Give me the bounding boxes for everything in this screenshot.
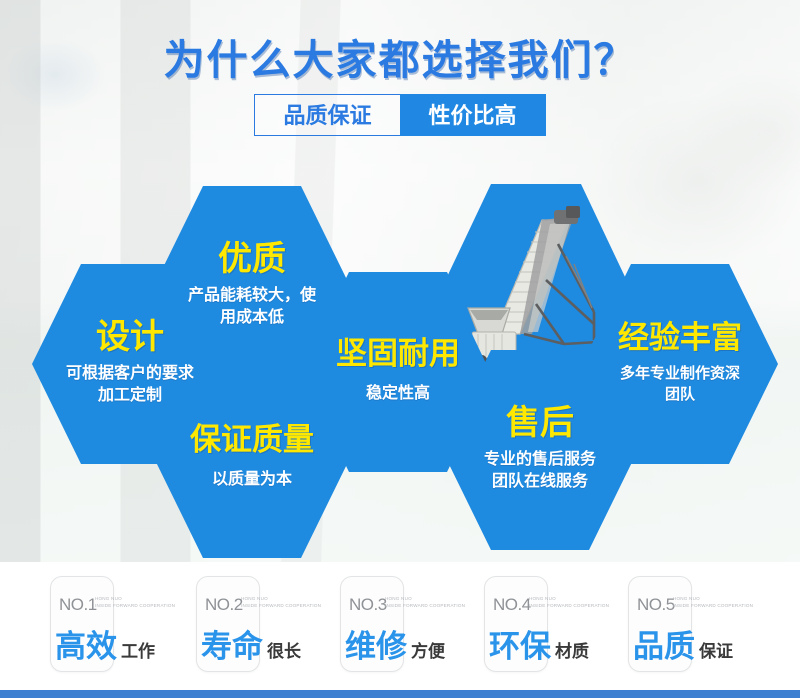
- badge-no1-keyword: 高效: [55, 629, 117, 664]
- hexagon-guarantee-desc: 以质量为本: [212, 469, 292, 492]
- badge-no2-number: NO.2: [205, 595, 243, 615]
- badge-no4-subtext: HONG NUOINSIDE FORWARD COOPERATION: [529, 596, 621, 610]
- hexagon-design-desc: 可根据客户的要求 加工定制: [66, 363, 194, 408]
- badge-no4-keyword: 环保: [489, 629, 551, 664]
- feature-badge-strip: NO.1 HONG NUOINSIDE FORWARD COOPERATION …: [0, 562, 800, 690]
- hexagon-design-title: 设计: [96, 320, 164, 356]
- badge-no1-label: 高效工作: [55, 621, 155, 666]
- hexagon-quality-title: 优质: [218, 242, 286, 278]
- badge-no3-number: NO.3: [349, 595, 387, 615]
- badge-no2-label: 寿命很长: [201, 621, 301, 666]
- hexagon-experience-title: 经验丰富: [618, 322, 742, 355]
- hexagon-guarantee-title: 保证质量: [190, 424, 314, 457]
- badge-no4[interactable]: NO.4 HONG NUOINSIDE FORWARD COOPERATION …: [484, 576, 548, 672]
- badge-no3-suffix: 方便: [411, 642, 445, 661]
- badge-no5-subtext: HONG NUOINSIDE FORWARD COOPERATION: [673, 596, 765, 610]
- badge-no1-subtext: HONG NUOINSIDE FORWARD COOPERATION: [95, 596, 187, 610]
- badge-no4-label: 环保材质: [489, 621, 589, 666]
- badge-no2-suffix: 很长: [267, 642, 301, 661]
- badge-no5[interactable]: NO.5 HONG NUOINSIDE FORWARD COOPERATION …: [628, 576, 692, 672]
- hexagon-aftersales-desc: 专业的售后服务 团队在线服务: [484, 449, 596, 494]
- hexagon-experience-desc: 多年专业制作资深 团队: [620, 363, 740, 406]
- hexagon-durable-title: 坚固耐用: [336, 338, 460, 371]
- badge-no3[interactable]: NO.3 HONG NUOINSIDE FORWARD COOPERATION …: [340, 576, 404, 672]
- hexagon-quality-desc: 产品能耗较大，使 用成本低: [188, 285, 316, 330]
- badge-no4-number: NO.4: [493, 595, 531, 615]
- badge-no3-subtext: HONG NUOINSIDE FORWARD COOPERATION: [385, 596, 477, 610]
- badge-no2[interactable]: NO.2 HONG NUOINSIDE FORWARD COOPERATION …: [196, 576, 260, 672]
- badge-no4-suffix: 材质: [555, 642, 589, 661]
- badge-no5-suffix: 保证: [699, 642, 733, 661]
- badge-no3-label: 维修方便: [345, 621, 445, 666]
- badge-no1-suffix: 工作: [121, 642, 155, 661]
- badge-no1[interactable]: NO.1 HONG NUOINSIDE FORWARD COOPERATION …: [50, 576, 114, 672]
- hexagon-aftersales-title: 售后: [506, 406, 574, 442]
- badge-no2-subtext: HONG NUOINSIDE FORWARD COOPERATION: [241, 596, 333, 610]
- badge-no5-number: NO.5: [637, 595, 675, 615]
- badge-no1-number: NO.1: [59, 595, 97, 615]
- badge-no5-keyword: 品质: [633, 629, 695, 664]
- badge-no2-keyword: 寿命: [201, 629, 263, 664]
- badge-no5-label: 品质保证: [633, 621, 733, 666]
- hexagon-cluster: 设计 可根据客户的要求 加工定制 优质 产品能耗较大，使 用成本低 保证质量 以…: [0, 0, 800, 562]
- hexagon-durable-desc: 稳定性高: [366, 383, 430, 406]
- footer-accent-bar: [0, 690, 800, 698]
- badge-no3-keyword: 维修: [345, 629, 407, 664]
